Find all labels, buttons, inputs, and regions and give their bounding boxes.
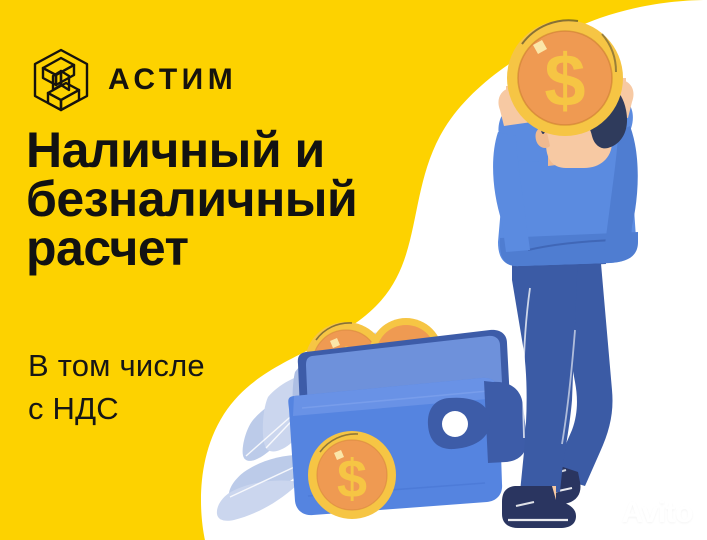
dollar-coin: $ [308, 431, 396, 519]
avito-dots-icon [589, 500, 617, 526]
avito-watermark: Avito [589, 498, 693, 528]
svg-text:$: $ [337, 449, 367, 509]
promo-banner: $ $ [0, 0, 707, 540]
headline-line-3: расчет [26, 224, 496, 273]
interlocking-cube-logo-icon [30, 47, 92, 113]
headline-line-1: Наличный и [26, 126, 496, 175]
dollar-coin-large: $ [507, 20, 623, 136]
page-title: Наличный и безналичный расчет [26, 126, 496, 273]
subtitle-line-2: с НДС [28, 388, 328, 431]
headline-line-2: безналичный [26, 175, 496, 224]
brand-name: АСТИМ [108, 65, 237, 95]
subtitle-line-1: В том числе [28, 345, 328, 388]
brand-logo[interactable]: АСТИМ [30, 47, 237, 113]
subtitle: В том числе с НДС [28, 345, 328, 431]
svg-text:$: $ [544, 39, 585, 122]
man-lifting-coin [493, 76, 638, 528]
avito-watermark-text: Avito [622, 498, 693, 528]
